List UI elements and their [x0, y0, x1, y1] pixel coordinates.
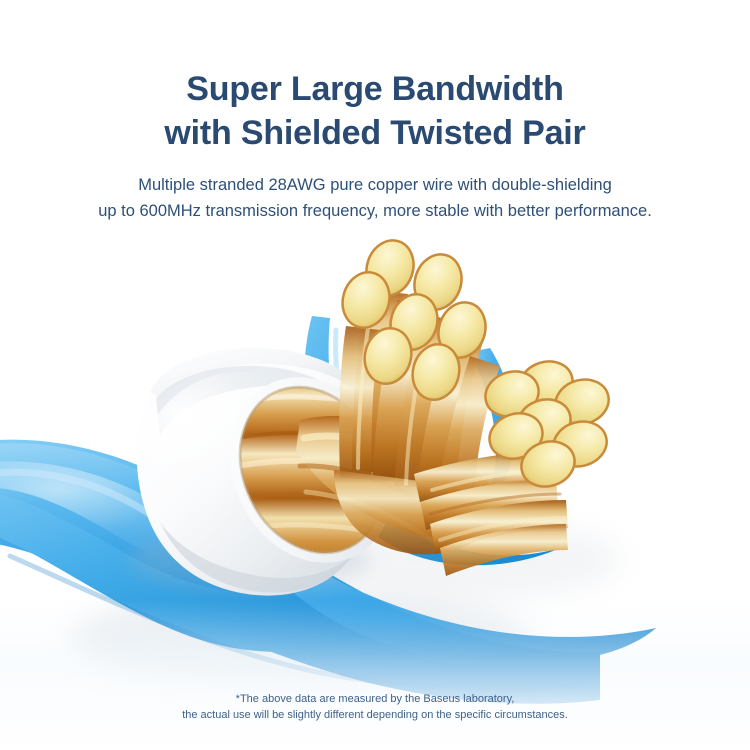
cable-illustration-svg	[0, 0, 750, 750]
product-feature-banner: Super Large Bandwidth with Shielded Twis…	[0, 0, 750, 750]
product-illustration	[0, 0, 750, 750]
